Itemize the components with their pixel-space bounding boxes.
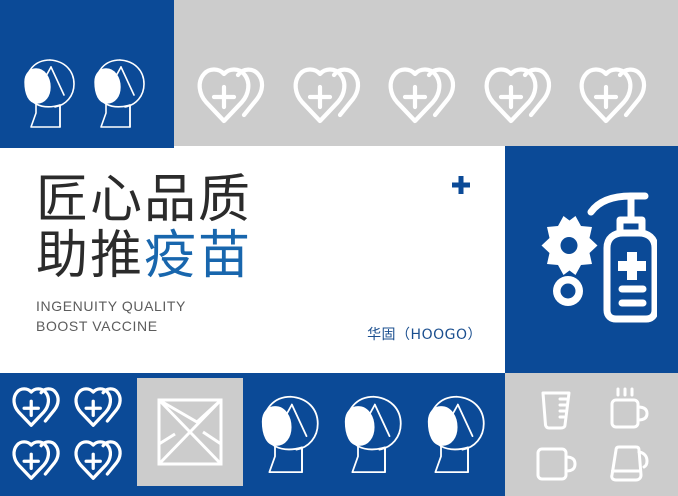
cup-icon-grid <box>520 382 664 490</box>
top-mask-icon-row <box>10 52 164 136</box>
bottom-heart-icon-grid <box>8 382 132 488</box>
double-heart-plus-icon <box>10 438 68 486</box>
double-heart-plus-icon <box>385 65 467 131</box>
right-white-gutter <box>480 146 505 373</box>
double-heart-plus-icon <box>10 385 68 433</box>
broken-image-placeholder-icon <box>157 398 223 466</box>
double-heart-plus-icon <box>576 65 658 131</box>
teapot-icon <box>606 441 650 485</box>
double-heart-plus-icon <box>194 65 276 131</box>
double-heart-plus-icon <box>481 65 563 131</box>
brand-name: 华固（HOOGO） <box>367 324 482 344</box>
double-heart-plus-icon <box>290 65 372 131</box>
double-heart-plus-icon <box>72 385 130 433</box>
broken-image-placeholder <box>137 378 243 486</box>
headline-line-2-dark: 助推 <box>36 226 144 286</box>
double-heart-plus-icon <box>72 438 130 486</box>
virus-dot-icon <box>553 276 583 306</box>
steaming-mug-icon <box>606 387 650 431</box>
masked-face-icon <box>340 391 412 479</box>
medical-cross-icon <box>618 252 646 280</box>
measuring-beaker-icon <box>534 387 578 431</box>
masked-face-icon <box>20 55 84 133</box>
headline-subtitle-english: INGENUITY QUALITY BOOST VACCINE <box>36 296 186 336</box>
headline-line-2-accent: 疫苗 <box>144 226 252 286</box>
headline-line-2: 助推疫苗 <box>36 228 252 284</box>
headline-card: 匠心品质 助推疫苗 INGENUITY QUALITY BOOST VACCIN… <box>0 148 504 361</box>
bottom-mask-icon-row <box>252 386 500 484</box>
masked-face-icon <box>423 391 495 479</box>
top-heart-icon-row <box>186 62 666 134</box>
plus-mark-icon <box>450 174 472 196</box>
mug-icon <box>534 441 578 485</box>
masked-face-icon <box>257 391 329 479</box>
hand-sanitizer-bottle-icon <box>591 196 655 319</box>
masked-face-icon <box>90 55 154 133</box>
poster-canvas: 匠心品质 助推疫苗 INGENUITY QUALITY BOOST VACCIN… <box>0 0 678 496</box>
headline-line-1: 匠心品质 <box>36 172 252 228</box>
sanitizer-icon-group <box>505 175 678 345</box>
